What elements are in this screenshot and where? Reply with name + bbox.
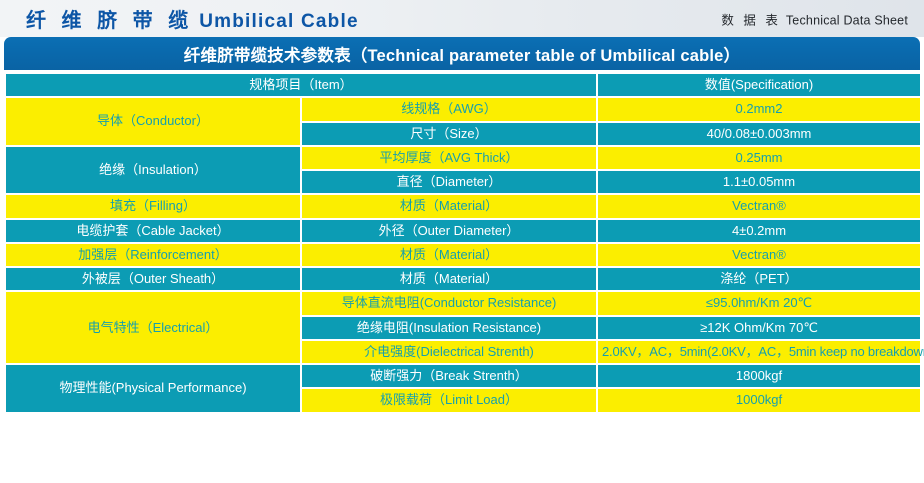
cell-subitem: 导体直流电阻(Conductor Resistance): [302, 292, 596, 314]
brand-title-cn: 纤 维 脐 带 缆: [26, 4, 193, 33]
table-row: 外被层（Outer Sheath）材质（Material）涤纶（PET）: [6, 268, 920, 290]
cell-value: 1000kgf: [598, 389, 920, 411]
datasheet-page: 纤 维 脐 带 缆 Umbilical Cable 数 据 表Technical…: [0, 0, 924, 483]
table-row: 物理性能(Physical Performance)破断强力（Break Str…: [6, 365, 920, 387]
cell-value: 0.2mm2: [598, 98, 920, 120]
sheet-label-en: Technical Data Sheet: [786, 13, 908, 27]
cell-value: 0.25mm: [598, 147, 920, 169]
cell-value: ≥12K Ohm/Km 70℃: [598, 317, 920, 339]
spec-table-head: 规格项目（Item） 数值(Specification): [6, 74, 920, 96]
cell-subitem: 破断强力（Break Strenth）: [302, 365, 596, 387]
cell-item: 加强层（Reinforcement）: [6, 244, 300, 266]
cell-value: 2.0KV，AC，5min(2.0KV，AC，5min keep no brea…: [598, 341, 920, 363]
cell-value: 涤纶（PET）: [598, 268, 920, 290]
cell-subitem: 尺寸（Size）: [302, 123, 596, 145]
cell-value: 1800kgf: [598, 365, 920, 387]
cell-item: 电气特性（Electrical）: [6, 292, 300, 363]
cell-subitem: 材质（Material）: [302, 244, 596, 266]
spec-table-body: 导体（Conductor）线规格（AWG）0.2mm2尺寸（Size）40/0.…: [6, 98, 920, 411]
cell-subitem: 平均厚度（AVG Thick）: [302, 147, 596, 169]
cell-subitem: 绝缘电阻(Insulation Resistance): [302, 317, 596, 339]
cell-item: 外被层（Outer Sheath）: [6, 268, 300, 290]
cell-value: Vectran®: [598, 195, 920, 217]
cell-subitem: 线规格（AWG）: [302, 98, 596, 120]
header-spec: 数值(Specification): [598, 74, 920, 96]
brand-title-en: Umbilical Cable: [199, 11, 359, 33]
sheet-label-cn: 数 据 表: [721, 13, 780, 27]
cell-value: Vectran®: [598, 244, 920, 266]
cell-subitem: 直径（Diameter）: [302, 171, 596, 193]
cell-subitem: 极限载荷（Limit Load）: [302, 389, 596, 411]
cell-item: 绝缘（Insulation）: [6, 147, 300, 194]
cell-subitem: 介电强度(Dielectrical Strenth): [302, 341, 596, 363]
table-row: 导体（Conductor）线规格（AWG）0.2mm2: [6, 98, 920, 120]
cell-value: 40/0.08±0.003mm: [598, 123, 920, 145]
cell-item: 电缆护套（Cable Jacket）: [6, 220, 300, 242]
banner-title: 纤维脐带缆技术参数表（Technical parameter table of …: [184, 42, 740, 66]
sheet-label: 数 据 表Technical Data Sheet: [721, 9, 908, 28]
table-row: 绝缘（Insulation）平均厚度（AVG Thick）0.25mm: [6, 147, 920, 169]
cell-subitem: 材质（Material）: [302, 195, 596, 217]
cell-item: 填充（Filling）: [6, 195, 300, 217]
cell-subitem: 外径（Outer Diameter）: [302, 220, 596, 242]
cell-item: 导体（Conductor）: [6, 98, 300, 145]
spec-table: 规格项目（Item） 数值(Specification) 导体（Conducto…: [4, 72, 922, 414]
cell-item: 物理性能(Physical Performance): [6, 365, 300, 412]
table-row: 电气特性（Electrical）导体直流电阻(Conductor Resista…: [6, 292, 920, 314]
table-row: 填充（Filling）材质（Material）Vectran®: [6, 195, 920, 217]
banner-container: 纤维脐带缆技术参数表（Technical parameter table of …: [0, 37, 924, 70]
brand-title: 纤 维 脐 带 缆 Umbilical Cable: [26, 4, 359, 33]
cell-value: 4±0.2mm: [598, 220, 920, 242]
table-row: 电缆护套（Cable Jacket）外径（Outer Diameter）4±0.…: [6, 220, 920, 242]
table-row: 加强层（Reinforcement）材质（Material）Vectran®: [6, 244, 920, 266]
cell-value: 1.1±0.05mm: [598, 171, 920, 193]
cell-subitem: 材质（Material）: [302, 268, 596, 290]
banner: 纤维脐带缆技术参数表（Technical parameter table of …: [4, 37, 920, 70]
table-header-row: 规格项目（Item） 数值(Specification): [6, 74, 920, 96]
top-header-bar: 纤 维 脐 带 缆 Umbilical Cable 数 据 表Technical…: [0, 0, 924, 37]
cell-value: ≤95.0hm/Km 20℃: [598, 292, 920, 314]
header-item: 规格项目（Item）: [6, 74, 596, 96]
